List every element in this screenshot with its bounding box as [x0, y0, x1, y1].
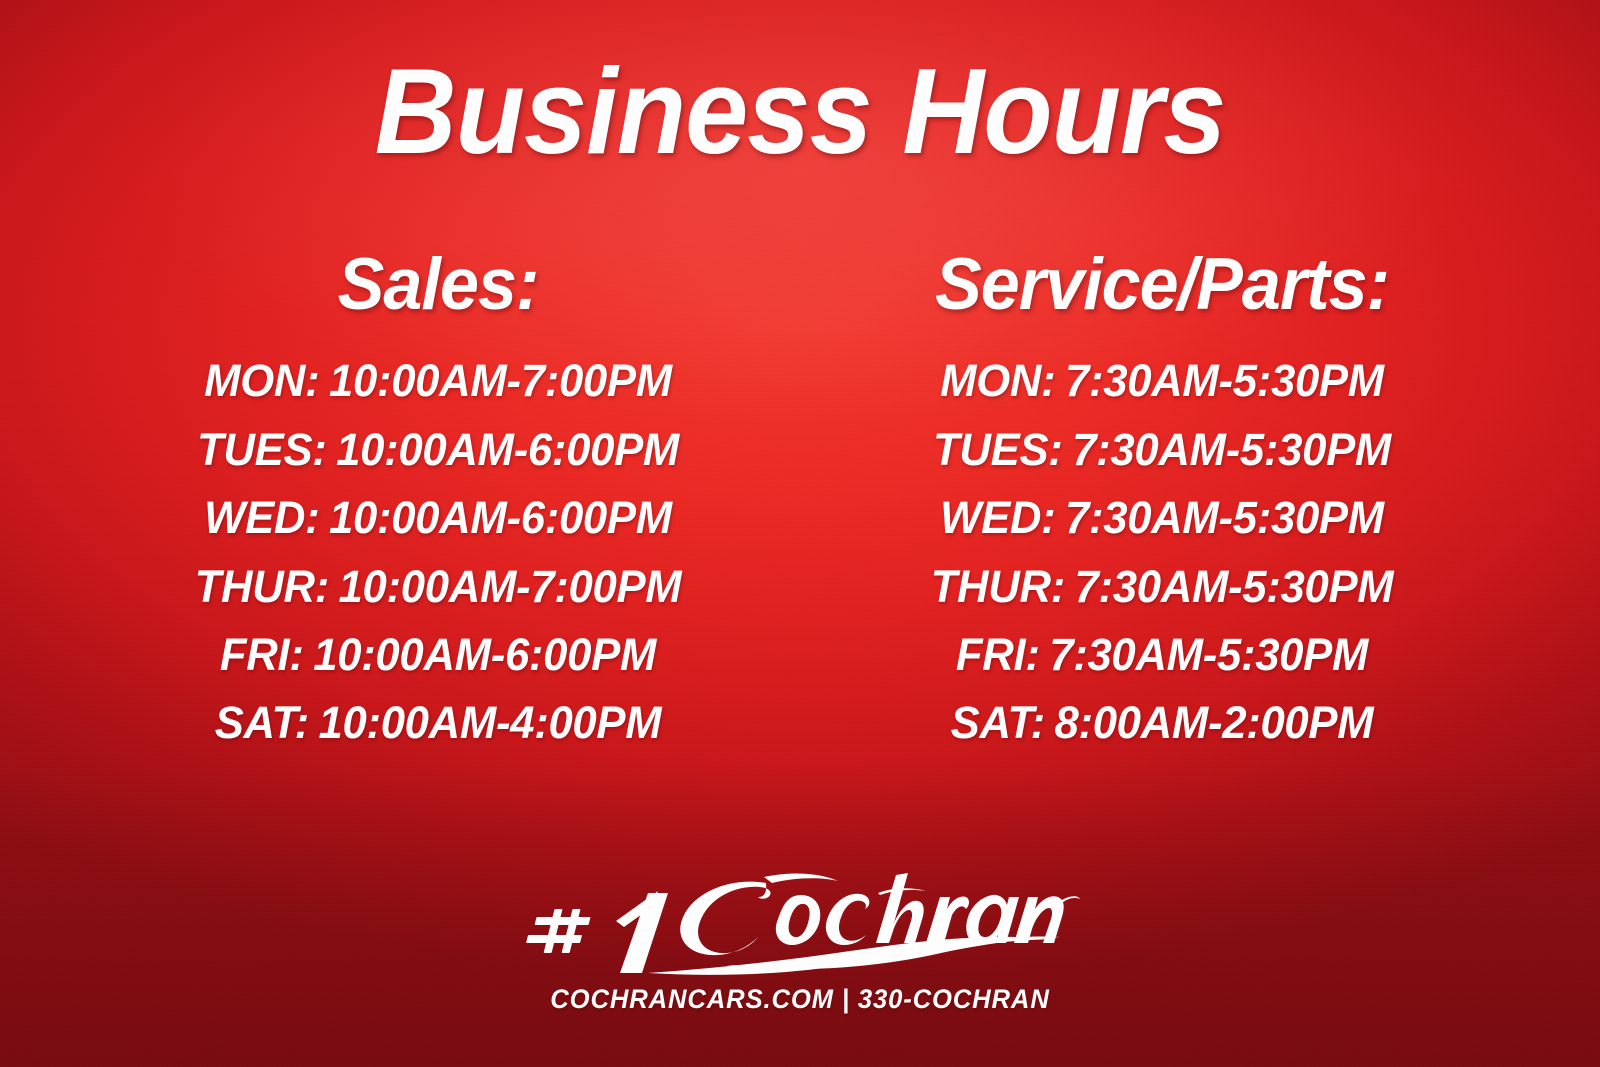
- day-label: FRI:: [220, 629, 304, 680]
- sales-hours-column: Sales: MON:10:00AM-7:00PM TUES:10:00AM-6…: [100, 246, 800, 758]
- day-label: TUES:: [197, 424, 327, 475]
- hours-value: 7:30AM-5:30PM: [1072, 424, 1391, 475]
- service-parts-hours-column: Service/Parts: MON:7:30AM-5:30PM TUES:7:…: [800, 246, 1500, 758]
- hours-value: 10:00AM-6:00PM: [313, 629, 656, 680]
- business-hours-poster: Business Hours Sales: MON:10:00AM-7:00PM…: [0, 0, 1600, 1067]
- hours-value: 7:30AM-5:30PM: [1065, 492, 1384, 543]
- number-one-cochran-logo-icon: [520, 847, 1080, 975]
- table-row: WED:7:30AM-5:30PM: [834, 484, 1490, 552]
- sales-hours-list: MON:10:00AM-7:00PM TUES:10:00AM-6:00PM W…: [100, 347, 776, 757]
- table-row: THUR:7:30AM-5:30PM: [834, 553, 1490, 621]
- hours-value: 7:30AM-5:30PM: [1065, 355, 1384, 406]
- hours-value: 10:00AM-6:00PM: [336, 424, 679, 475]
- day-label: SAT:: [951, 697, 1045, 748]
- footer-contact-line: COCHRANCARS.COM | 330-COCHRAN: [40, 984, 1560, 1015]
- table-row: MON:7:30AM-5:30PM: [834, 347, 1490, 415]
- day-label: TUES:: [933, 424, 1063, 475]
- table-row: FRI:7:30AM-5:30PM: [834, 621, 1490, 689]
- hours-value: 10:00AM-7:00PM: [339, 561, 682, 612]
- table-row: TUES:10:00AM-6:00PM: [110, 416, 766, 484]
- table-row: THUR:10:00AM-7:00PM: [110, 553, 766, 621]
- day-label: THUR:: [931, 561, 1065, 612]
- hours-value: 10:00AM-6:00PM: [329, 492, 672, 543]
- hours-value: 8:00AM-2:00PM: [1054, 697, 1373, 748]
- hours-value: 7:30AM-5:30PM: [1075, 561, 1394, 612]
- day-label: MON:: [940, 355, 1055, 406]
- table-row: SAT:10:00AM-4:00PM: [110, 689, 766, 757]
- hours-value: 10:00AM-7:00PM: [329, 355, 672, 406]
- day-label: SAT:: [215, 697, 309, 748]
- day-label: THUR:: [195, 561, 329, 612]
- sales-column-heading: Sales:: [114, 246, 763, 323]
- day-label: FRI:: [956, 629, 1040, 680]
- table-row: WED:10:00AM-6:00PM: [110, 484, 766, 552]
- table-row: FRI:10:00AM-6:00PM: [110, 621, 766, 689]
- day-label: WED:: [204, 492, 319, 543]
- hours-value: 10:00AM-4:00PM: [318, 697, 661, 748]
- hours-columns: Sales: MON:10:00AM-7:00PM TUES:10:00AM-6…: [0, 246, 1600, 758]
- table-row: MON:10:00AM-7:00PM: [110, 347, 766, 415]
- service-parts-column-heading: Service/Parts:: [838, 246, 1487, 323]
- brand-footer: COCHRANCARS.COM | 330-COCHRAN: [0, 847, 1600, 1015]
- day-label: MON:: [204, 355, 319, 406]
- day-label: WED:: [940, 492, 1055, 543]
- table-row: TUES:7:30AM-5:30PM: [834, 416, 1490, 484]
- hours-value: 7:30AM-5:30PM: [1049, 629, 1368, 680]
- page-title: Business Hours: [56, 47, 1544, 175]
- service-parts-hours-list: MON:7:30AM-5:30PM TUES:7:30AM-5:30PM WED…: [824, 347, 1500, 757]
- table-row: SAT:8:00AM-2:00PM: [834, 689, 1490, 757]
